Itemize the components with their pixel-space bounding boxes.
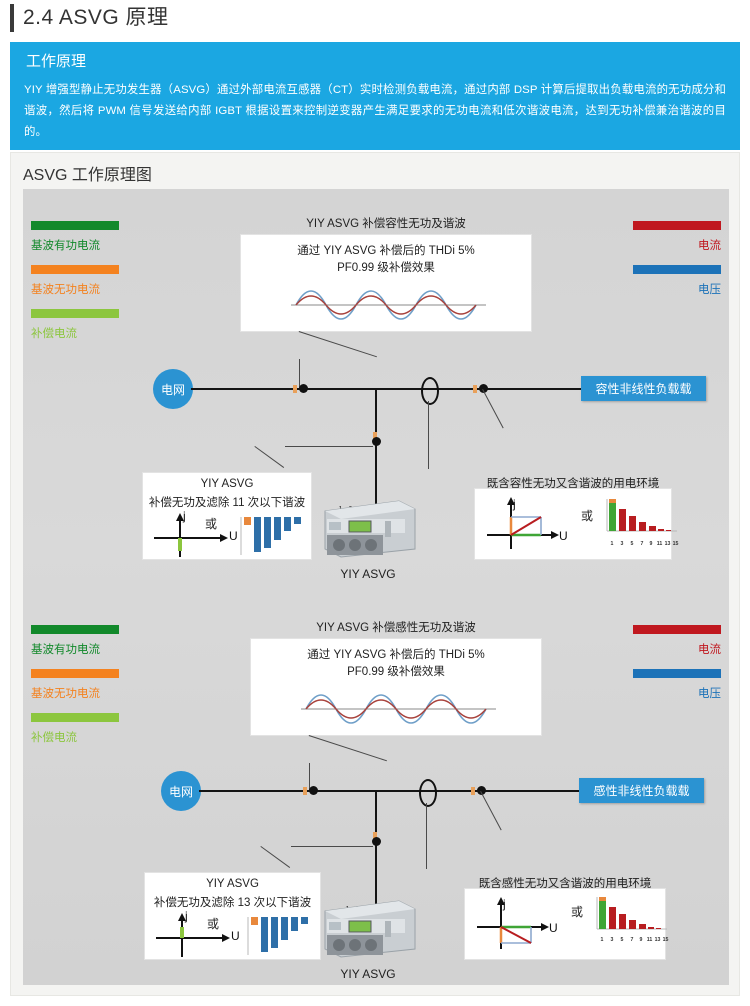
lower-asvg-device-icon	[319, 895, 417, 961]
upper-left-vector-chart	[148, 511, 240, 559]
working-principle-body: YIY 增强型静止无功发生器（ASVG）通过外部电流互感器（CT）实时检测负载电…	[24, 80, 726, 143]
lower-right-bar-tick-1: 1	[598, 937, 606, 943]
legend-label-current-upper: 电流	[698, 237, 721, 253]
upper-asvg-device-icon	[319, 495, 417, 561]
upper-grid-node: 电网	[153, 369, 193, 409]
upper-waveform-line1: 通过 YIY ASVG 补偿后的 THDi 5%	[241, 243, 531, 260]
upper-right-vector-chart	[481, 495, 567, 553]
legend-swatch-active-current-lower	[31, 625, 119, 634]
lower-left-bar-chart	[242, 911, 312, 959]
upper-right-bar-chart	[603, 497, 679, 539]
lower-waveform-panel: 通过 YIY ASVG 补偿后的 THDi 5% PF0.99 级补偿效果	[251, 639, 541, 735]
lower-ct-symbol	[419, 779, 437, 807]
legend-swatch-voltage-upper	[633, 265, 721, 274]
diagram-canvas: 基波有功电流 基波无功电流 补偿电流 电流 电压 YIY ASVG 补偿容性无功…	[23, 189, 729, 985]
upper-load-leader	[482, 389, 504, 428]
upper-ct-node-1	[299, 384, 308, 393]
upper-ct-symbol	[421, 377, 439, 405]
lower-left-panel: YIY ASVG 补偿无功及滤除 13 次以下谐波 j U 或 1	[145, 873, 320, 959]
diagram-card: ASVG 工作原理图 基波有功电流 基波无功电流 补偿电流 电流 电压 YIY …	[10, 152, 740, 996]
diagram-title: ASVG 工作原理图	[23, 161, 152, 185]
lower-asvg-device-label: YIY ASVG	[319, 967, 417, 981]
lower-right-or-label: 或	[571, 903, 583, 920]
legend-swatch-current-upper	[633, 221, 721, 230]
lower-right-bar-tick-5: 5	[618, 937, 626, 943]
upper-waveform-leader	[299, 331, 377, 357]
legend-swatch-voltage-lower	[633, 669, 721, 678]
upper-load-box: 容性非线性负载载	[581, 376, 706, 401]
legend-swatch-current-lower	[633, 625, 721, 634]
lower-node-tick-1	[303, 787, 307, 795]
upper-right-bar-tick-7: 7	[638, 541, 646, 547]
lower-node-tick-2	[471, 787, 475, 795]
lower-left-axis-u: U	[231, 929, 240, 943]
upper-right-axis-j: j	[513, 497, 516, 511]
lower-right-bar-tick-15: 15	[661, 937, 670, 943]
lower-right-bar-chart	[593, 895, 669, 937]
upper-grid-label: 电网	[161, 381, 185, 398]
lower-waveform-chart	[251, 683, 541, 735]
lower-grid-node: 电网	[161, 771, 201, 811]
legend-label-reactive-current-lower: 基波无功电流	[31, 685, 100, 701]
lower-left-panel-line2: 补偿无功及滤除 13 次以下谐波	[141, 894, 324, 910]
upper-right-axis-u: U	[559, 529, 568, 543]
lower-asvg-branch	[375, 790, 377, 908]
lower-waveform-line1: 通过 YIY ASVG 补偿后的 THDi 5%	[251, 647, 541, 664]
upper-right-bar-tick-9: 9	[647, 541, 655, 547]
legend-label-active-current-upper: 基波有功电流	[31, 237, 100, 253]
working-principle-box: 工作原理 YIY 增强型静止无功发生器（ASVG）通过外部电流互感器（CT）实时…	[10, 42, 740, 150]
legend-label-current-lower: 电流	[698, 641, 721, 657]
upper-waveform-line2: PF0.99 级补偿效果	[241, 260, 531, 277]
working-principle-title: 工作原理	[26, 50, 726, 71]
upper-load-label: 容性非线性负载载	[595, 380, 691, 397]
upper-right-bar-tick-1: 1	[608, 541, 616, 547]
upper-left-or-label: 或	[205, 515, 217, 532]
upper-right-bar-tick-3: 3	[618, 541, 626, 547]
upper-waveform-title: YIY ASVG 补偿容性无功及谐波	[241, 215, 531, 231]
lower-right-bar-tick-9: 9	[637, 937, 645, 943]
upper-node-tick-2	[473, 385, 477, 393]
upper-right-panel: j U 或 1 3 5 7 9 11 13 15	[475, 489, 671, 559]
lower-left-or-label: 或	[207, 915, 219, 932]
upper-left-panel: YIY ASVG 补偿无功及滤除 11 次以下谐波 j U 或	[143, 473, 311, 559]
upper-asvg-branch	[375, 388, 377, 508]
upper-asvg-device-label: YIY ASVG	[319, 567, 417, 581]
lower-ct-node-1	[309, 786, 318, 795]
lower-right-vector-chart	[471, 895, 557, 953]
lower-load-label: 感性非线性负载载	[593, 782, 689, 799]
upper-right-bar-tick-15: 15	[671, 541, 680, 547]
page-title: 2.4 ASVG 原理	[10, 4, 169, 32]
legend-swatch-compensation-current-upper	[31, 309, 119, 318]
upper-left-panel-line2: 补偿无功及滤除 11 次以下谐波	[137, 494, 317, 510]
upper-waveform-chart	[241, 279, 531, 331]
lower-waveform-leader	[309, 735, 387, 761]
upper-right-bar-tick-5: 5	[628, 541, 636, 547]
upper-right-or-label: 或	[581, 507, 593, 524]
legend-label-voltage-upper: 电压	[698, 281, 721, 297]
legend-label-compensation-current-lower: 补偿电流	[31, 729, 77, 745]
lower-waveform-line2: PF0.99 级补偿效果	[251, 664, 541, 681]
upper-ct-lead	[428, 401, 429, 469]
lower-load-box: 感性非线性负载载	[579, 778, 704, 803]
upper-left-leader-h	[285, 446, 373, 447]
lower-asvg-node	[372, 837, 381, 846]
legend-swatch-active-current-upper	[31, 221, 119, 230]
upper-node-tick-1	[293, 385, 297, 393]
lower-right-bar-tick-7: 7	[628, 937, 636, 943]
lower-left-leader-diag	[260, 846, 290, 868]
legend-label-active-current-lower: 基波有功电流	[31, 641, 100, 657]
lower-left-axis-j: j	[185, 909, 188, 923]
lower-ct-lead	[426, 803, 427, 869]
lower-right-axis-u: U	[549, 921, 558, 935]
lower-right-bar-tick-3: 3	[608, 937, 616, 943]
legend-label-compensation-current-upper: 补偿电流	[31, 325, 77, 341]
lower-right-axis-j: j	[503, 897, 506, 911]
lower-left-vector-chart	[150, 911, 242, 959]
upper-left-leader-diag	[254, 446, 284, 468]
legend-swatch-compensation-current-lower	[31, 713, 119, 722]
upper-left-bar-chart	[235, 511, 305, 559]
upper-asvg-node	[372, 437, 381, 446]
legend-label-reactive-current-upper: 基波无功电流	[31, 281, 100, 297]
upper-waveform-panel: 通过 YIY ASVG 补偿后的 THDi 5% PF0.99 级补偿效果	[241, 235, 531, 331]
legend-swatch-reactive-current-lower	[31, 669, 119, 678]
lower-grid-label: 电网	[169, 783, 193, 800]
lower-load-leader	[480, 791, 502, 830]
upper-left-panel-line1: YIY ASVG	[143, 478, 311, 490]
legend-swatch-reactive-current-upper	[31, 265, 119, 274]
legend-label-voltage-lower: 电压	[698, 685, 721, 701]
lower-waveform-title: YIY ASVG 补偿感性无功及谐波	[251, 619, 541, 635]
upper-left-axis-j: j	[183, 509, 186, 523]
lower-left-leader-h	[291, 846, 373, 847]
lower-left-panel-line1: YIY ASVG	[145, 878, 320, 890]
lower-right-panel: j U 或 1 3 5 7 9 11 13 15	[465, 889, 665, 959]
